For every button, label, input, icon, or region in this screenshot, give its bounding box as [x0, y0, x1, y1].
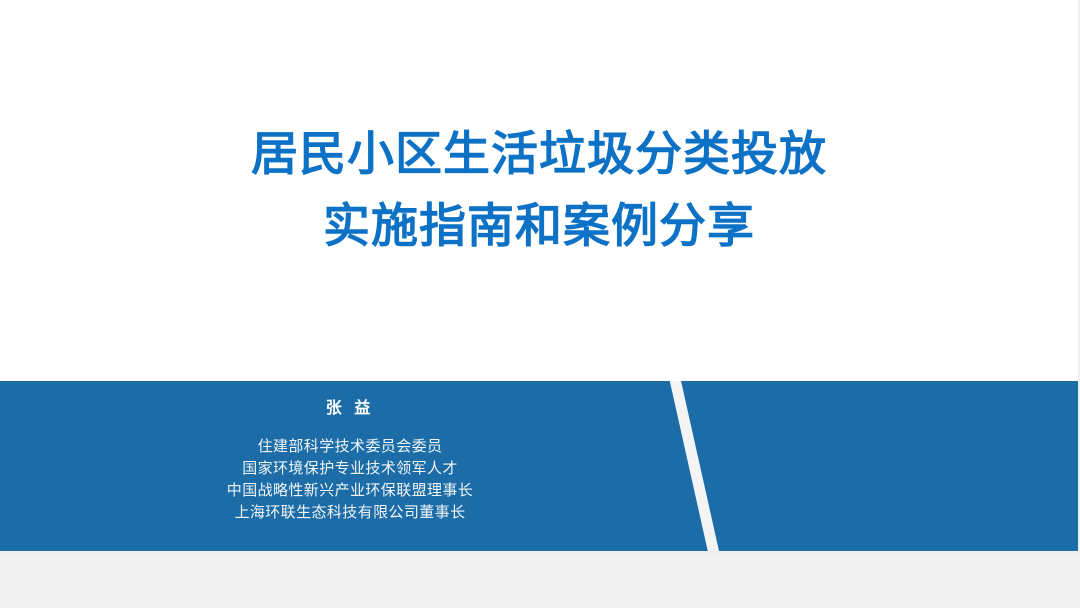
title-line-1: 居民小区生活垃圾分类投放	[0, 118, 1078, 190]
speaker-banner: 张 益 住建部科学技术委员会委员 国家环境保护专业技术领军人才 中国战略性新兴产…	[0, 381, 1078, 551]
speaker-info: 张 益 住建部科学技术委员会委员 国家环境保护专业技术领军人才 中国战略性新兴产…	[0, 381, 700, 551]
title-line-2: 实施指南和案例分享	[0, 190, 1078, 262]
speaker-credentials: 住建部科学技术委员会委员 国家环境保护专业技术领军人才 中国战略性新兴产业环保联…	[0, 436, 700, 524]
credential-line-4: 上海环联生态科技有限公司董事长	[0, 502, 700, 524]
credential-line-3: 中国战略性新兴产业环保联盟理事长	[0, 480, 700, 502]
speaker-name: 张 益	[0, 398, 700, 420]
credential-line-2: 国家环境保护专业技术领军人才	[0, 458, 700, 480]
slide-stage: 居民小区生活垃圾分类投放 实施指南和案例分享 张 益 住建部科学技术委员会委员 …	[0, 0, 1080, 608]
slide-bottom-hairline	[0, 551, 1080, 554]
slide-title: 居民小区生活垃圾分类投放 实施指南和案例分享	[0, 118, 1078, 262]
credential-line-1: 住建部科学技术委员会委员	[0, 436, 700, 458]
slide-bottom-margin	[0, 551, 1080, 608]
presentation-slide: 居民小区生活垃圾分类投放 实施指南和案例分享 张 益 住建部科学技术委员会委员 …	[0, 0, 1078, 551]
